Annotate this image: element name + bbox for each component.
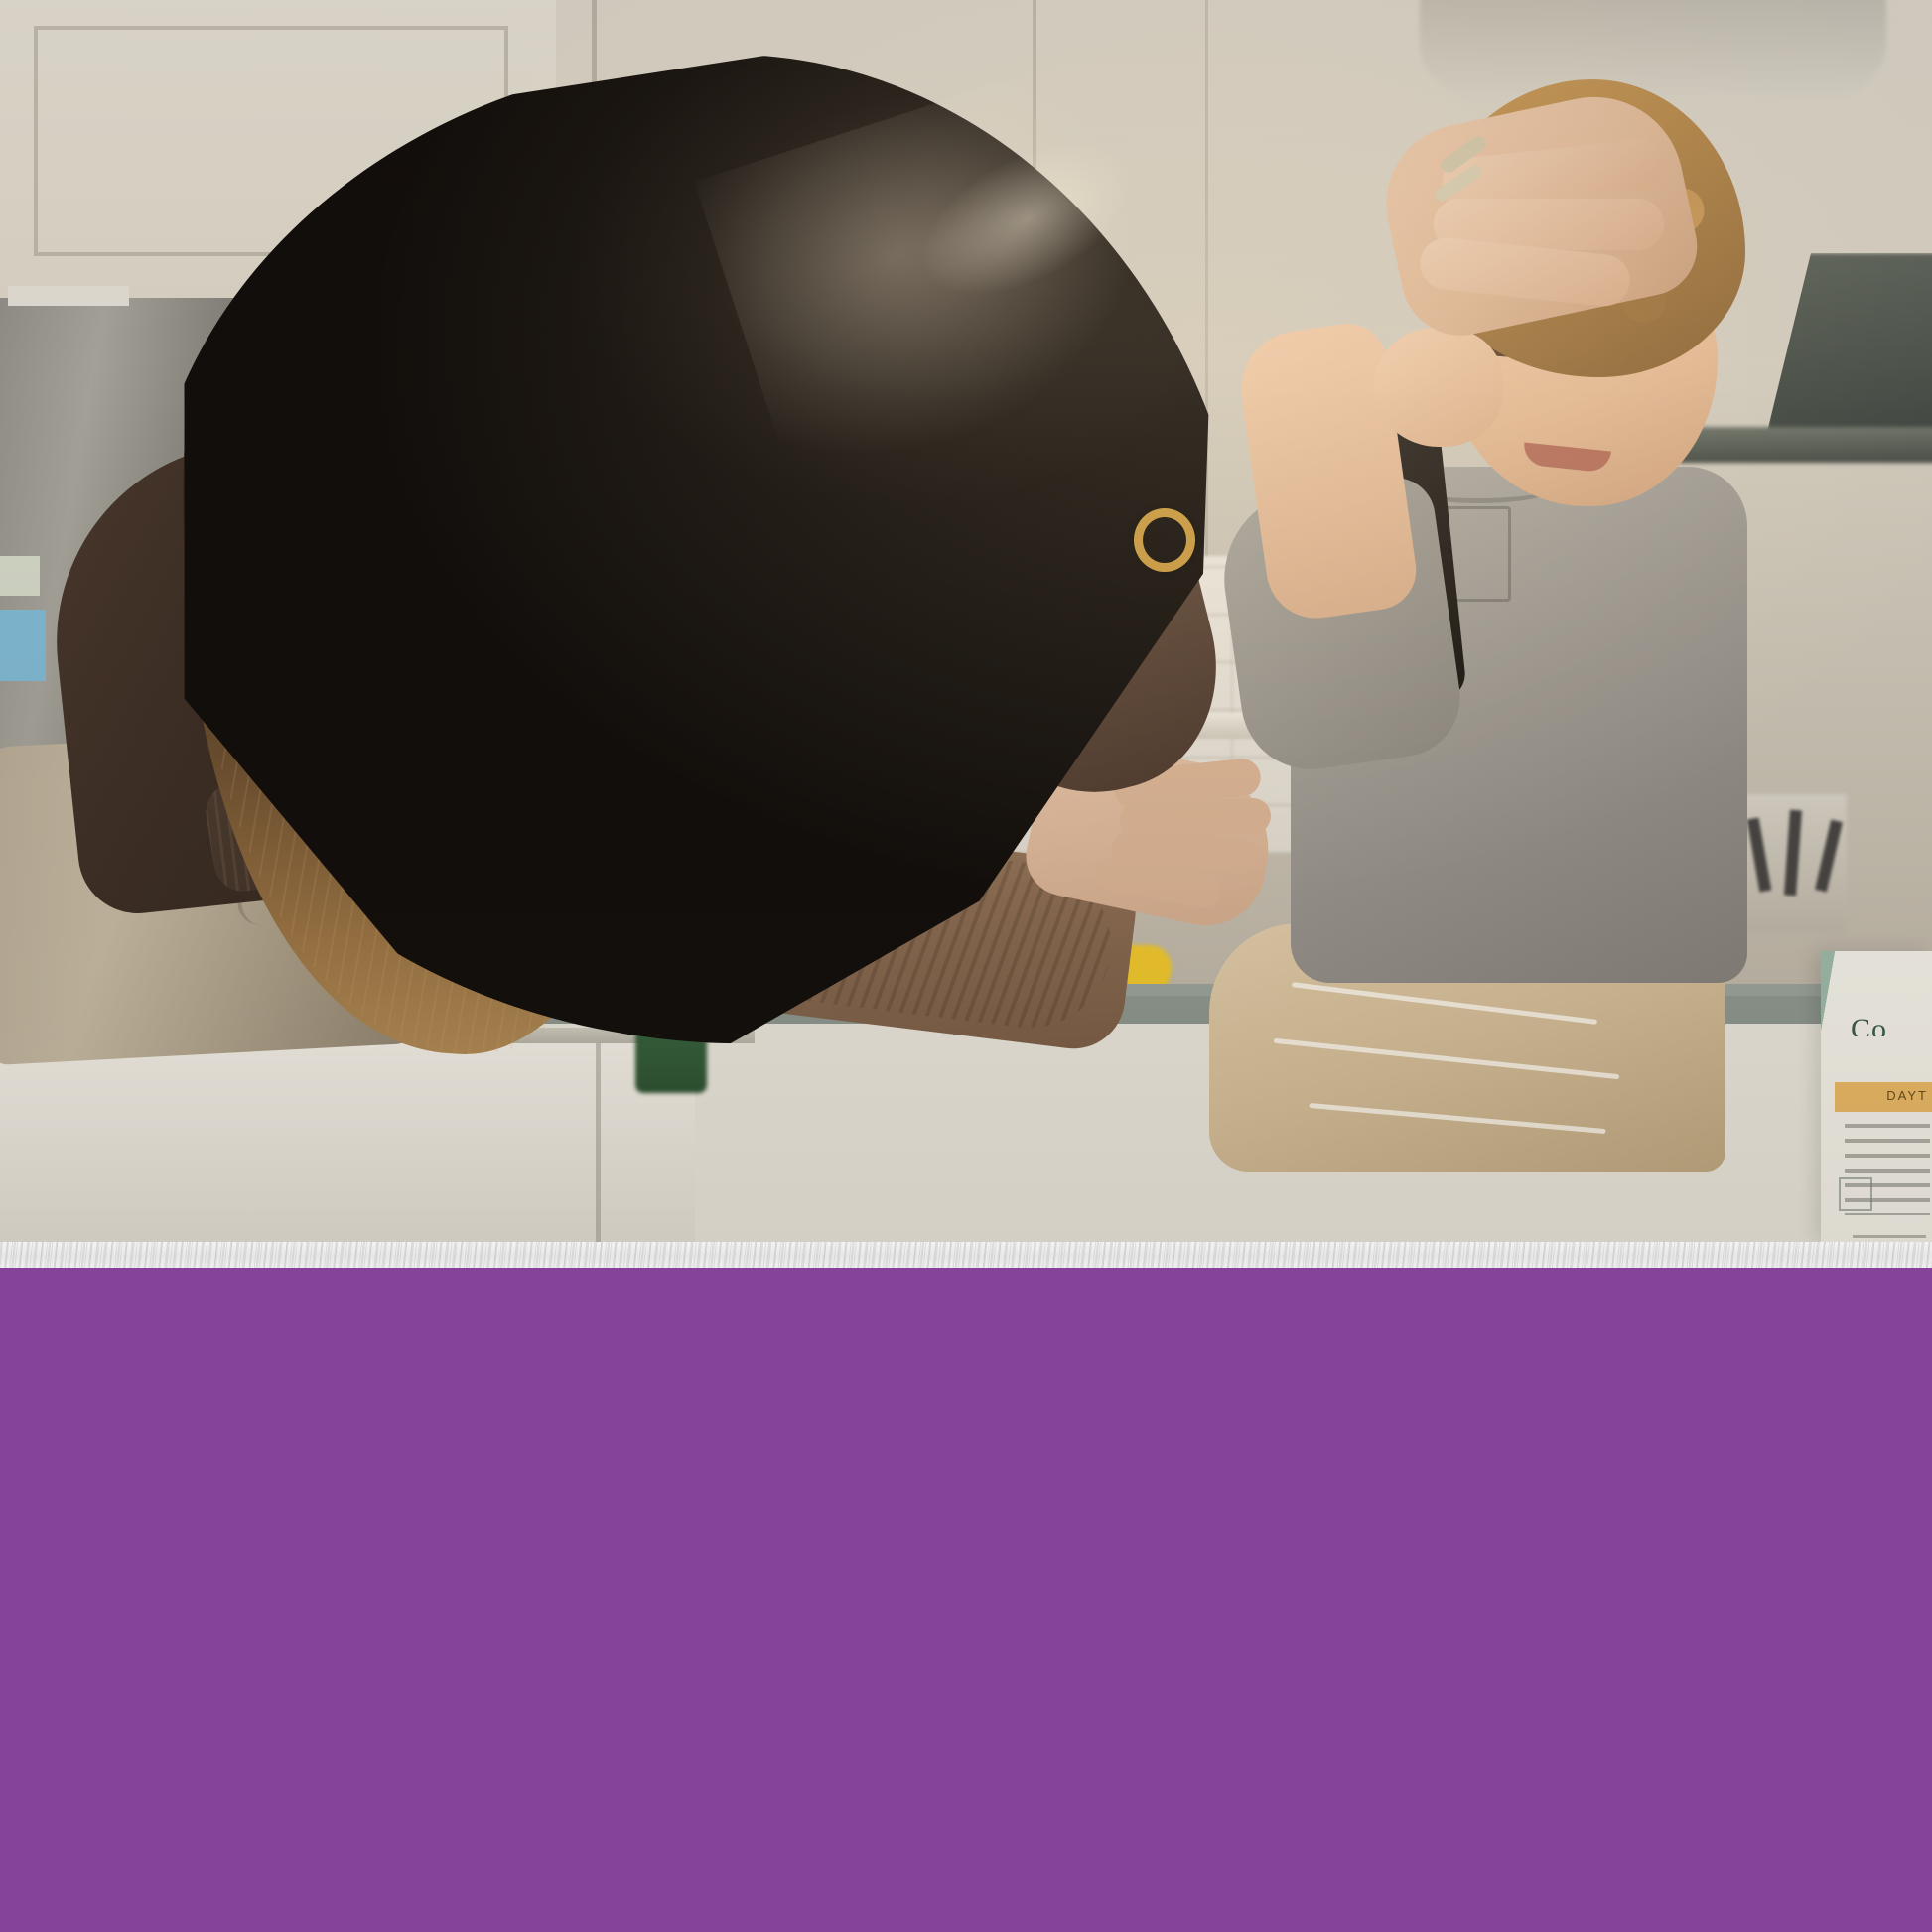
refrigerator-magnet <box>0 610 46 681</box>
carton-brand-text: Co <box>1851 1013 1930 1036</box>
ceiling-lamp <box>1420 0 1886 99</box>
lifestyle-photo: Co DAYT <box>0 0 1932 1242</box>
mother-earring <box>1134 508 1195 572</box>
carton-icon-box <box>1839 1177 1872 1211</box>
benefits-panel: None of the bad stuff. <box>0 1268 1932 1932</box>
child-fist <box>1374 328 1503 447</box>
advertisement-card: Co DAYT <box>0 0 1932 1932</box>
refrigerator-note <box>0 556 40 596</box>
range-hood-shelf <box>1678 427 1932 463</box>
counter-cabinet-seam <box>596 1043 601 1242</box>
carton-band-text: DAYT <box>1886 1088 1928 1103</box>
carton-accent-band: DAYT <box>1835 1082 1932 1112</box>
carton-footer-lines <box>1853 1235 1926 1242</box>
textured-divider <box>0 1242 1932 1268</box>
counter-cabinet-front <box>0 1043 695 1242</box>
refrigerator-badge <box>8 286 129 306</box>
